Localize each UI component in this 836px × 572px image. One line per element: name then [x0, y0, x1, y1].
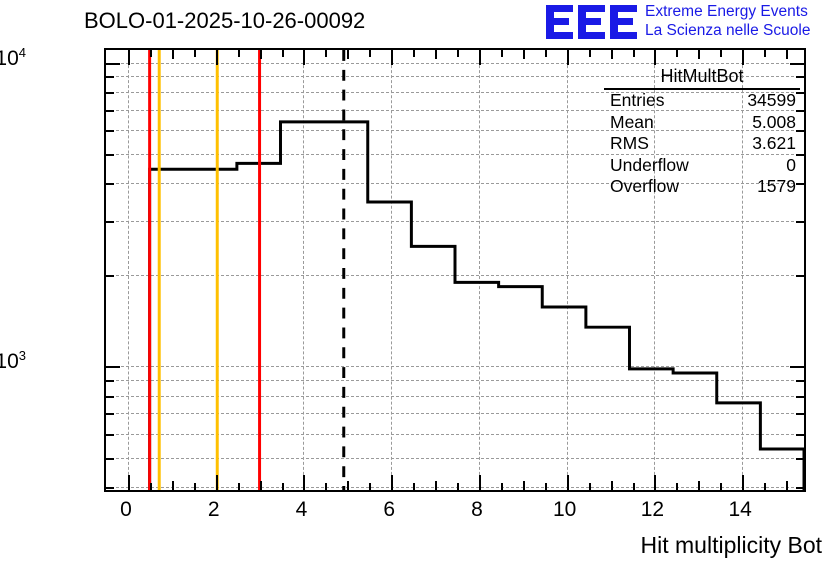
stats-box: HitMultBot Entries34599Mean5.008RMS3.621…	[604, 66, 800, 198]
y-tick-right	[796, 221, 804, 223]
x-tick-top	[435, 50, 437, 59]
eee-logo-line1: Extreme Energy Events	[645, 3, 810, 22]
x-tick-top	[347, 50, 349, 59]
x-tick	[654, 475, 656, 490]
x-tick-top	[654, 50, 656, 65]
x-tick	[567, 475, 569, 490]
y-tick-right	[796, 434, 804, 436]
y-tick	[106, 396, 114, 398]
x-tick-label: 8	[447, 498, 507, 522]
y-tick-right	[796, 487, 804, 489]
x-tick-top	[611, 50, 613, 59]
x-tick	[150, 483, 152, 490]
y-tick	[106, 434, 114, 436]
y-tick	[106, 92, 114, 94]
y-tick-right	[796, 380, 804, 382]
x-tick-top	[742, 50, 744, 65]
x-tick-top	[567, 50, 569, 65]
x-tick-top	[457, 50, 459, 57]
histogram-canvas: BOLO-01-2025-10-26-00092 Extreme Energy …	[0, 0, 836, 572]
y-tick	[106, 413, 114, 415]
y-tick	[106, 366, 120, 368]
y-tick-right	[790, 63, 804, 65]
x-tick-top	[633, 50, 635, 57]
x-tick-top	[545, 50, 547, 57]
x-tick-top	[128, 50, 130, 65]
x-tick-top	[720, 50, 722, 57]
eee-logo: Extreme Energy Events La Scienza nelle S…	[545, 2, 835, 42]
x-tick-top	[303, 50, 305, 65]
y-tick-label: 103	[0, 348, 26, 374]
x-tick	[786, 481, 788, 490]
y-tick-label: 104	[0, 45, 26, 71]
x-tick	[172, 481, 174, 490]
y-tick	[106, 487, 114, 489]
y-tick	[106, 183, 114, 185]
x-tick	[282, 483, 284, 490]
x-tick-label: 2	[184, 498, 244, 522]
x-tick	[216, 475, 218, 490]
x-tick	[633, 483, 635, 490]
stats-value: 5.008	[752, 112, 796, 134]
stats-key: Overflow	[610, 176, 679, 198]
x-tick-top	[194, 50, 196, 57]
x-tick-label: 6	[359, 498, 419, 522]
stats-row: Underflow0	[604, 155, 800, 177]
x-tick	[589, 483, 591, 490]
y-tick	[106, 110, 114, 112]
x-tick-top	[589, 50, 591, 57]
x-tick-top	[698, 50, 700, 59]
stats-value: 3.621	[752, 133, 796, 155]
x-tick-top	[150, 50, 152, 57]
stats-row: Overflow1579	[604, 176, 800, 198]
x-tick-top	[172, 50, 174, 59]
x-tick	[194, 483, 196, 490]
x-tick-label: 0	[96, 498, 156, 522]
eee-logo-text: Extreme Energy Events La Scienza nelle S…	[645, 3, 810, 40]
x-tick-top	[413, 50, 415, 57]
stats-key: Underflow	[610, 155, 689, 177]
y-tick	[106, 130, 114, 132]
x-tick	[764, 483, 766, 490]
x-tick-label: 12	[622, 498, 682, 522]
y-tick-right	[796, 413, 804, 415]
y-tick	[106, 154, 114, 156]
x-tick-label: 4	[271, 498, 331, 522]
x-tick	[128, 475, 130, 490]
y-tick	[106, 380, 114, 382]
y-tick-right	[796, 396, 804, 398]
y-tick-right	[796, 458, 804, 460]
y-tick	[106, 275, 114, 277]
y-tick	[106, 221, 114, 223]
eee-logo-mark	[545, 3, 640, 41]
x-tick-label: 14	[710, 498, 770, 522]
x-tick-top	[282, 50, 284, 57]
x-tick-top	[786, 50, 788, 59]
x-tick	[303, 475, 305, 490]
y-tick	[106, 458, 114, 460]
x-tick	[501, 483, 503, 490]
x-tick	[720, 483, 722, 490]
x-tick	[347, 481, 349, 490]
y-tick	[106, 63, 120, 65]
x-tick	[611, 481, 613, 490]
stats-title: HitMultBot	[604, 66, 800, 90]
x-tick-top	[391, 50, 393, 65]
x-tick-top	[479, 50, 481, 65]
x-tick-top	[325, 50, 327, 57]
x-tick-label: 10	[535, 498, 595, 522]
x-tick-top	[523, 50, 525, 59]
x-tick-top	[676, 50, 678, 57]
x-tick-top	[260, 50, 262, 59]
x-tick	[479, 475, 481, 490]
x-tick	[742, 475, 744, 490]
x-tick	[698, 481, 700, 490]
stats-key: Entries	[610, 90, 664, 112]
y-tick-right	[790, 366, 804, 368]
x-tick	[260, 481, 262, 490]
stats-rows: Entries34599Mean5.008RMS3.621Underflow0O…	[604, 90, 800, 198]
x-tick	[413, 483, 415, 490]
x-tick	[457, 483, 459, 490]
stats-row: RMS3.621	[604, 133, 800, 155]
y-tick	[106, 76, 114, 78]
x-axis-title: Hit multiplicity Bot	[641, 532, 822, 559]
stats-row: Mean5.008	[604, 112, 800, 134]
page-title: BOLO-01-2025-10-26-00092	[84, 8, 365, 34]
stats-key: Mean	[610, 112, 654, 134]
stats-value: 0	[786, 155, 796, 177]
x-tick	[238, 483, 240, 490]
x-tick	[435, 481, 437, 490]
x-tick	[545, 483, 547, 490]
stats-value: 34599	[747, 90, 796, 112]
x-tick-top	[764, 50, 766, 57]
stats-row: Entries34599	[604, 90, 800, 112]
x-tick	[523, 481, 525, 490]
x-tick-top	[216, 50, 218, 65]
x-tick	[391, 475, 393, 490]
x-tick	[676, 483, 678, 490]
x-tick-top	[238, 50, 240, 57]
x-tick-top	[501, 50, 503, 57]
x-tick	[325, 483, 327, 490]
stats-value: 1579	[757, 176, 796, 198]
x-tick-top	[369, 50, 371, 57]
stats-key: RMS	[610, 133, 649, 155]
x-tick	[369, 483, 371, 490]
eee-logo-line2: La Scienza nelle Scuole	[645, 22, 810, 41]
y-tick-right	[796, 275, 804, 277]
